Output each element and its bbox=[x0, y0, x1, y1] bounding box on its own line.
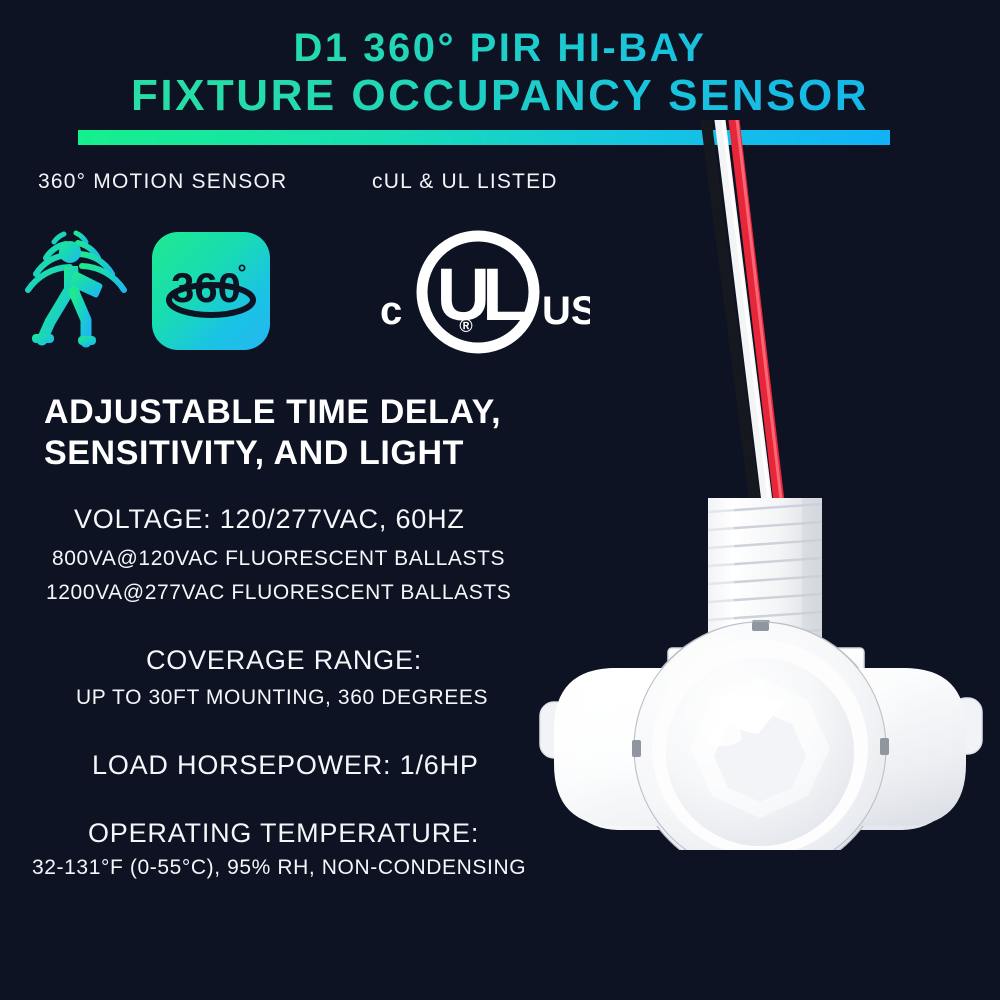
spec-voltage-title: VOLTAGE: 120/277VAC, 60HZ bbox=[74, 504, 465, 535]
degree-symbol: ° bbox=[238, 260, 247, 285]
registered-symbol: ® bbox=[459, 316, 472, 336]
ul-prefix-c: c bbox=[380, 289, 402, 333]
spec-temperature-note: 32-131°F (0-55°C), 95% RH, NON-CONDENSIN… bbox=[32, 856, 526, 880]
spec-voltage-note-2: 1200VA@277VAC FLUORESCENT BALLASTS bbox=[46, 581, 511, 605]
spec-headline-line-2: SENSITIVITY, AND LIGHT bbox=[44, 433, 501, 474]
pir-lens-assembly bbox=[632, 622, 889, 850]
360-degree-badge-icon: 360 ° bbox=[152, 232, 270, 350]
motion-sensor-caption: 360° MOTION SENSOR bbox=[38, 170, 287, 194]
spec-coverage-title: COVERAGE RANGE: bbox=[146, 645, 422, 676]
walking-person-motion-icon bbox=[24, 222, 142, 348]
spec-temperature-title: OPERATING TEMPERATURE: bbox=[88, 818, 479, 849]
360-label: 360 bbox=[171, 264, 241, 311]
title-line-1: D1 360° PIR HI-BAY bbox=[0, 26, 1000, 71]
page-title: D1 360° PIR HI-BAY FIXTURE OCCUPANCY SEN… bbox=[0, 26, 1000, 120]
product-body-overlay bbox=[520, 120, 1000, 850]
spec-headline: ADJUSTABLE TIME DELAY, SENSITIVITY, AND … bbox=[44, 392, 501, 475]
spec-headline-line-1: ADJUSTABLE TIME DELAY, bbox=[44, 392, 501, 433]
product-infographic: D1 360° PIR HI-BAY FIXTURE OCCUPANCY SEN… bbox=[0, 0, 1000, 1000]
spec-coverage-note: UP TO 30FT MOUNTING, 360 DEGREES bbox=[76, 686, 488, 710]
title-line-2: FIXTURE OCCUPANCY SENSOR bbox=[0, 71, 1000, 120]
ul-letters: UL bbox=[437, 253, 525, 336]
spec-horsepower: LOAD HORSEPOWER: 1/6HP bbox=[92, 750, 479, 781]
spec-voltage-note-1: 800VA@120VAC FLUORESCENT BALLASTS bbox=[52, 547, 505, 571]
